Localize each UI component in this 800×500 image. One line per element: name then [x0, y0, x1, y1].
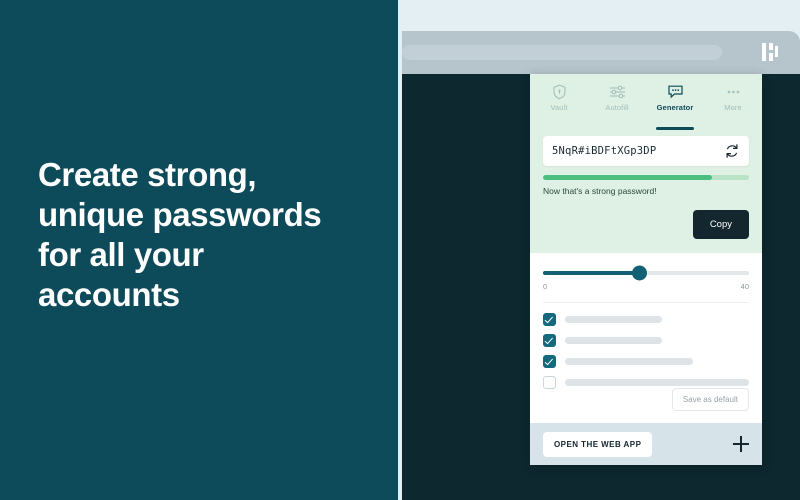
option-row[interactable]: [543, 334, 749, 347]
option-label-placeholder: [565, 358, 693, 365]
tab-autofill[interactable]: Autofill: [588, 82, 646, 122]
headline-line-4: accounts: [38, 275, 368, 315]
tab-vault[interactable]: Vault: [530, 82, 588, 122]
option-checkbox[interactable]: [543, 376, 556, 389]
length-slider-min-label: 0: [543, 282, 547, 291]
ellipsis-icon: [704, 84, 762, 100]
option-checkbox[interactable]: [543, 334, 556, 347]
screenshot-root: Create strong, unique passwords for all …: [0, 0, 800, 500]
url-bar[interactable]: [402, 45, 722, 60]
tab-generator-label: Generator: [646, 103, 704, 112]
promo-headline: Create strong, unique passwords for all …: [38, 155, 368, 315]
password-strength-fill: [543, 175, 712, 180]
open-web-app-button[interactable]: OPEN THE WEB APP: [543, 432, 652, 457]
generator-section: 5NqR#iBDFtXGp3DP Now that's a strong pas…: [530, 122, 762, 253]
headline-line-3: for all your: [38, 235, 368, 275]
generated-password-field[interactable]: 5NqR#iBDFtXGp3DP: [543, 136, 749, 166]
tab-vault-label: Vault: [530, 103, 588, 112]
generated-password-value: 5NqR#iBDFtXGp3DP: [552, 145, 724, 157]
popup-tabbar: Vault Autofill: [530, 74, 762, 122]
plus-icon[interactable]: [733, 436, 749, 452]
popup-footer: OPEN THE WEB APP: [530, 423, 762, 465]
browser-chrome: [402, 31, 800, 74]
headline-line-1: Create strong,: [38, 155, 368, 195]
active-tab-indicator: [656, 127, 694, 130]
sliders-icon: [588, 84, 646, 100]
password-strength-bar: [543, 175, 749, 180]
length-slider-track[interactable]: [543, 271, 749, 275]
promo-panel: Create strong, unique passwords for all …: [0, 0, 398, 500]
shield-icon: [530, 84, 588, 100]
password-strength-message: Now that's a strong password!: [543, 186, 749, 196]
option-label-placeholder: [565, 316, 662, 323]
generator-options-list: [543, 303, 749, 389]
length-slider-thumb[interactable]: [632, 266, 647, 281]
tab-generator[interactable]: Generator: [646, 82, 704, 122]
option-label-placeholder: [565, 379, 749, 386]
length-slider-fill: [543, 271, 640, 275]
copy-button[interactable]: Copy: [693, 210, 749, 239]
headline-line-2: unique passwords: [38, 195, 368, 235]
generator-settings: 0 40: [530, 253, 762, 423]
option-checkbox[interactable]: [543, 313, 556, 326]
tab-autofill-label: Autofill: [588, 103, 646, 112]
tab-more[interactable]: More: [704, 82, 762, 122]
option-checkbox[interactable]: [543, 355, 556, 368]
length-slider[interactable]: 0 40: [543, 267, 749, 291]
refresh-icon[interactable]: [724, 143, 740, 159]
generator-chat-icon: [646, 84, 704, 100]
option-label-placeholder: [565, 337, 662, 344]
length-slider-max-label: 40: [741, 282, 749, 291]
extension-popup: Vault Autofill: [530, 74, 762, 465]
bitwarden-logo-icon[interactable]: [760, 42, 780, 62]
tab-more-label: More: [704, 103, 762, 112]
option-row[interactable]: [543, 313, 749, 326]
option-row[interactable]: [543, 355, 749, 368]
save-as-default-button[interactable]: Save as default: [672, 388, 749, 411]
